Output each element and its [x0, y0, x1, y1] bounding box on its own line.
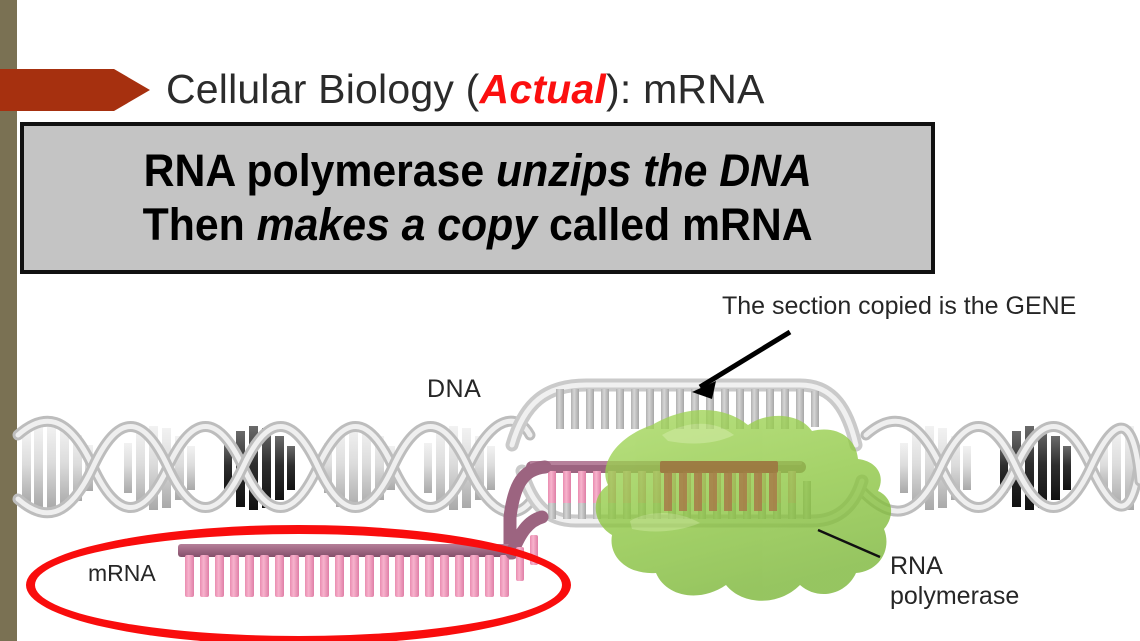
statement-line-2-plain-b: called mRNA	[537, 199, 813, 250]
statement-line-1: RNA polymerase unzips the DNA	[143, 144, 811, 198]
statement-line-2: Then makes a copy called mRNA	[142, 198, 812, 252]
label-rna-polymerase: RNApolymerase	[890, 551, 1090, 611]
statement-line-2-plain-a: Then	[142, 199, 256, 250]
label-rna-polymerase-line2: polymerase	[890, 582, 1019, 610]
dna-helix-left	[18, 421, 534, 513]
title-arrow-bullet-icon	[0, 69, 150, 111]
page-title-before: Cellular Biology (	[166, 66, 480, 112]
slide-canvas: Cellular Biology (Actual): mRNA RNA poly…	[0, 0, 1140, 641]
label-mrna: mRNA	[88, 559, 156, 588]
page-title-accent: Actual	[480, 66, 607, 112]
dna-helix-right	[862, 421, 1140, 511]
transcription-diagram: The section copied is the GENE DNA mRNA …	[0, 285, 1140, 641]
label-rna-polymerase-line1: RNA	[890, 552, 943, 580]
statement-line-1-plain: RNA polymerase	[143, 145, 495, 196]
statement-line-2-italic: makes a copy	[256, 199, 536, 250]
page-title-after: ): mRNA	[606, 66, 765, 112]
statement-line-1-italic: unzips the DNA	[496, 145, 812, 196]
label-gene: The section copied is the GENE	[722, 292, 1076, 321]
page-title: Cellular Biology (Actual): mRNA	[166, 60, 765, 118]
statement-box: RNA polymerase unzips the DNA Then makes…	[20, 122, 935, 274]
label-dna: DNA	[427, 375, 481, 404]
